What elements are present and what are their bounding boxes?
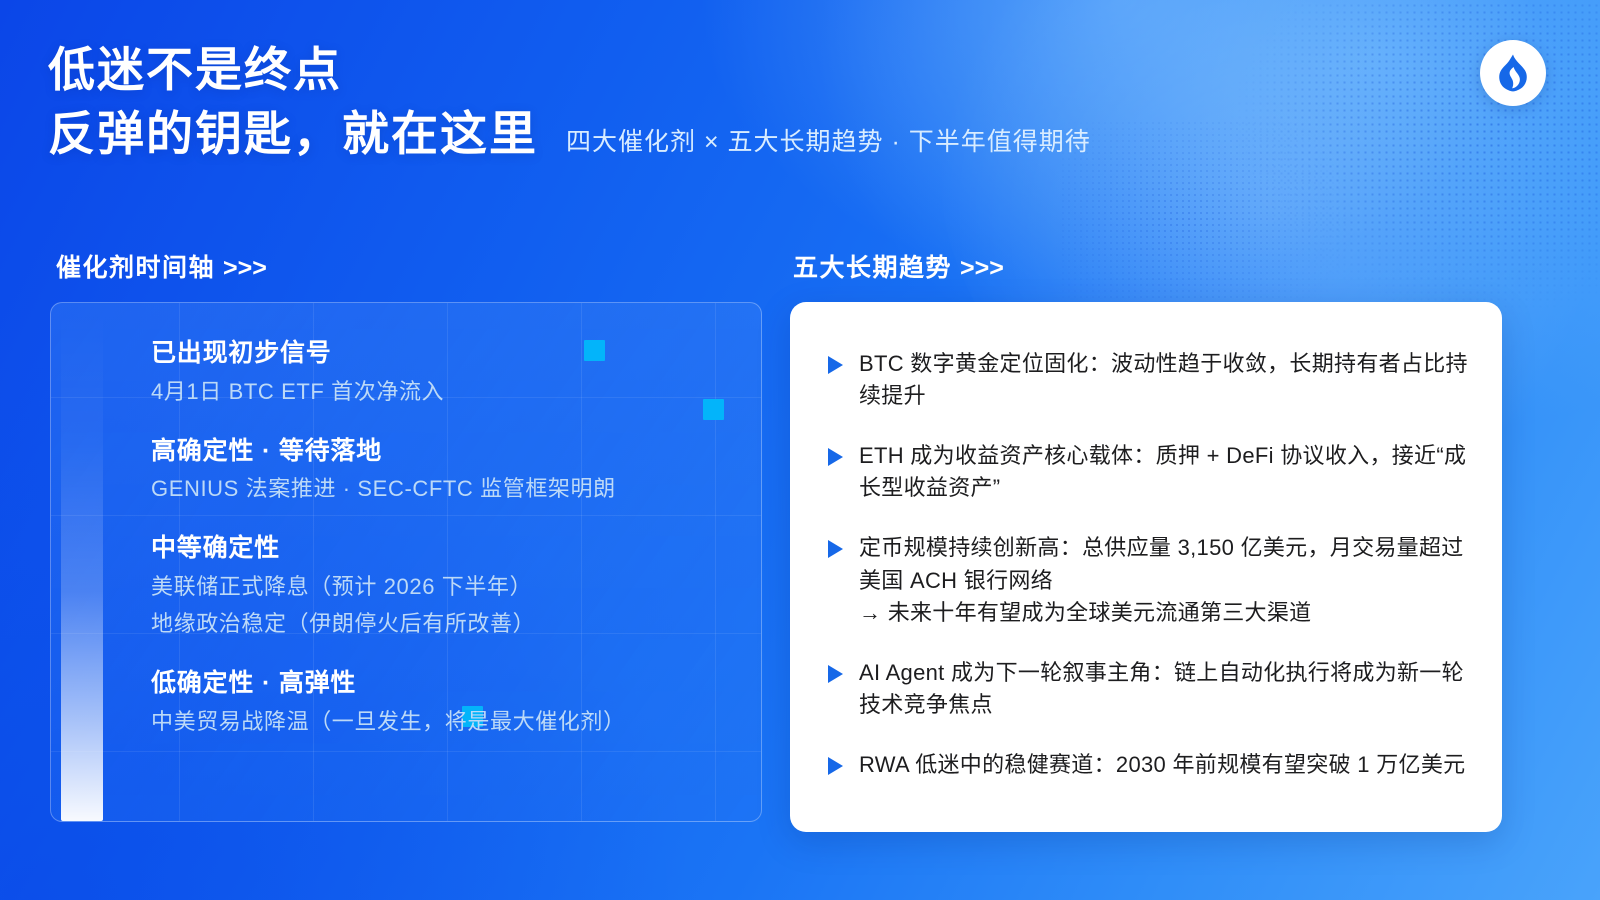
trend-item-text: 定币规模持续创新高：总供应量 3,150 亿美元，月交易量超过美国 ACH 银行… <box>859 535 1464 592</box>
trend-item-text: AI Agent 成为下一轮叙事主角：链上自动化执行将成为新一轮技术竞争焦点 <box>859 657 1472 721</box>
triangle-bullet-icon <box>828 757 843 775</box>
timeline-axis-bar <box>61 313 103 821</box>
timeline-item: 已出现初步信号 4月1日 BTC ETF 首次净流入 <box>151 337 739 408</box>
section-heading-catalyst-label: 催化剂时间轴 <box>56 254 215 282</box>
triangle-bullet-icon <box>828 665 843 683</box>
trend-item-text-wrap: 定币规模持续创新高：总供应量 3,150 亿美元，月交易量超过美国 ACH 银行… <box>859 532 1472 628</box>
timeline-item-list: 已出现初步信号 4月1日 BTC ETF 首次净流入 高确定性 · 等待落地 G… <box>151 337 739 737</box>
section-heading-trends-label: 五大长期趋势 <box>793 254 952 282</box>
timeline-item-title: 已出现初步信号 <box>151 337 739 371</box>
trend-list-item: ETH 成为收益资产核心载体：质押 + DeFi 协议收入，接近“成长型收益资产… <box>818 440 1472 504</box>
logo-badge <box>1480 40 1546 106</box>
page-title-line2: 反弹的钥匙，就在这里 <box>48 106 538 161</box>
timeline-item-title: 中等确定性 <box>151 532 739 566</box>
triangle-bullet-icon <box>828 540 843 558</box>
timeline-item-detail: GENIUS 法案推进 · SEC-CFTC 监管框架明朗 <box>151 473 739 505</box>
timeline-item-detail-secondary: 地缘政治稳定（伊朗停火后有所改善） <box>151 608 739 640</box>
timeline-item: 高确定性 · 等待落地 GENIUS 法案推进 · SEC-CFTC 监管框架明… <box>151 435 739 506</box>
section-heading-trends: 五大长期趋势>>> <box>793 248 1004 284</box>
trend-item-text: RWA 低迷中的稳健赛道：2030 年前规模有望突破 1 万亿美元 <box>859 749 1465 781</box>
page-subtitle: 四大催化剂 × 五大长期趋势 · 下半年值得期待 <box>566 122 1091 158</box>
timeline-item: 中等确定性 美联储正式降息（预计 2026 下半年） 地缘政治稳定（伊朗停火后有… <box>151 532 739 640</box>
trend-list-item: 定币规模持续创新高：总供应量 3,150 亿美元，月交易量超过美国 ACH 银行… <box>818 532 1472 628</box>
catalyst-timeline-panel: 已出现初步信号 4月1日 BTC ETF 首次净流入 高确定性 · 等待落地 G… <box>50 302 762 822</box>
long-term-trends-card: BTC 数字黄金定位固化：波动性趋于收敛，长期持有者占比持续提升 ETH 成为收… <box>790 302 1502 832</box>
trend-item-text: ETH 成为收益资产核心载体：质押 + DeFi 协议收入，接近“成长型收益资产… <box>859 440 1472 504</box>
section-heading-catalyst-timeline: 催化剂时间轴>>> <box>56 248 267 284</box>
timeline-item-detail: 中美贸易战降温（一旦发生，将是最大催化剂） <box>151 706 739 738</box>
timeline-item-detail: 美联储正式降息（预计 2026 下半年） <box>151 571 739 603</box>
trend-list-item: AI Agent 成为下一轮叙事主角：链上自动化执行将成为新一轮技术竞争焦点 <box>818 657 1472 721</box>
trend-item-extra-note: → 未来十年有望成为全球美元流通第三大渠道 <box>859 597 1472 629</box>
slide-header: 低迷不是终点 反弹的钥匙，就在这里 四大催化剂 × 五大长期趋势 · 下半年值得… <box>48 42 1091 162</box>
trend-list-item: RWA 低迷中的稳健赛道：2030 年前规模有望突破 1 万亿美元 <box>818 749 1472 781</box>
trend-list-item: BTC 数字黄金定位固化：波动性趋于收敛，长期持有者占比持续提升 <box>818 348 1472 412</box>
slide-canvas: 低迷不是终点 反弹的钥匙，就在这里 四大催化剂 × 五大长期趋势 · 下半年值得… <box>0 0 1600 900</box>
triangle-bullet-icon <box>828 356 843 374</box>
timeline-item-title: 高确定性 · 等待落地 <box>151 435 739 469</box>
timeline-item-title: 低确定性 · 高弹性 <box>151 667 739 701</box>
section-heading-trends-chevron: >>> <box>960 254 1004 282</box>
trend-item-text: BTC 数字黄金定位固化：波动性趋于收敛，长期持有者占比持续提升 <box>859 348 1472 412</box>
page-title-line1: 低迷不是终点 <box>48 42 1091 97</box>
title-line2-row: 反弹的钥匙，就在这里 四大催化剂 × 五大长期趋势 · 下半年值得期待 <box>48 106 1091 161</box>
timeline-item-detail: 4月1日 BTC ETF 首次净流入 <box>151 376 739 408</box>
section-heading-catalyst-chevron: >>> <box>223 254 267 282</box>
flame-icon <box>1496 53 1530 93</box>
triangle-bullet-icon <box>828 448 843 466</box>
timeline-item: 低确定性 · 高弹性 中美贸易战降温（一旦发生，将是最大催化剂） <box>151 667 739 738</box>
